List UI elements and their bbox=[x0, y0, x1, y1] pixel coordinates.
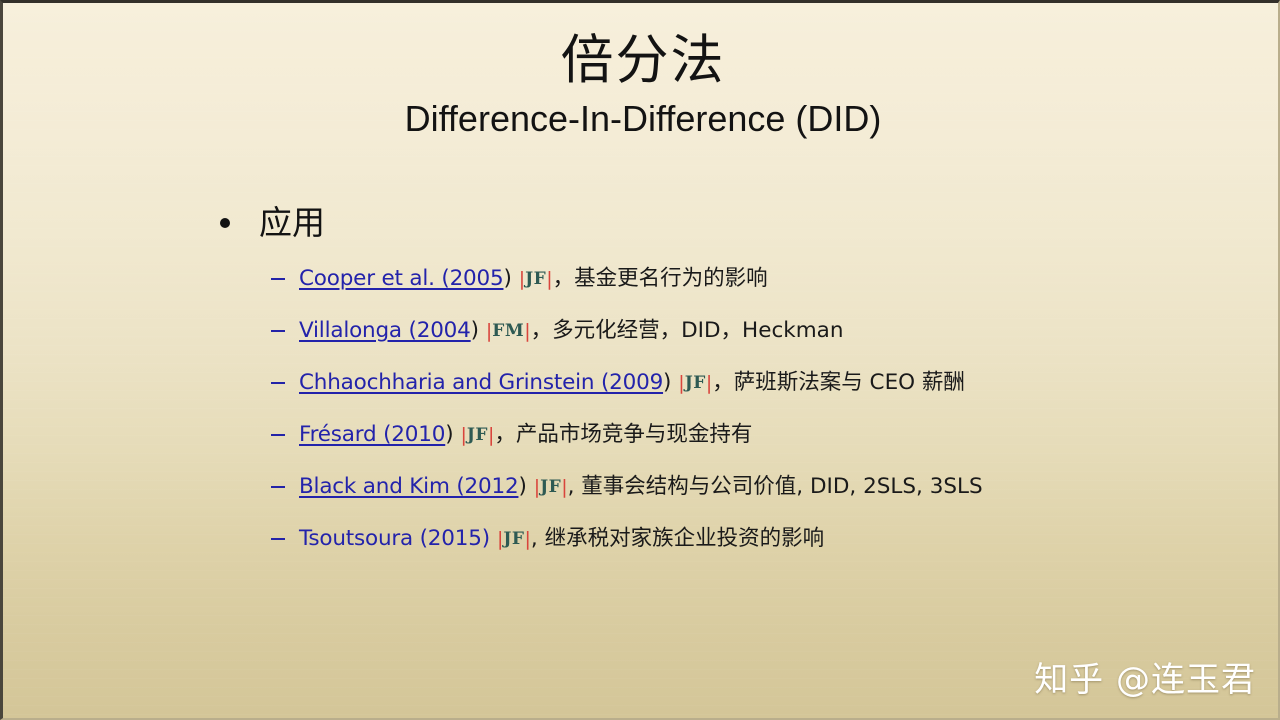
list-item: Cooper et al. (2005) |JF|，基金更名行为的影响 bbox=[3, 253, 1280, 305]
slide-subtitle-english: Difference-In-Difference (DID) bbox=[3, 96, 1280, 142]
slide-body: 应用 Cooper et al. (2005) |JF|，基金更名行为的影响 V… bbox=[3, 201, 1280, 565]
dash-marker-icon bbox=[271, 382, 285, 384]
dash-marker-icon bbox=[271, 434, 285, 436]
reference-close-paren: ) bbox=[503, 266, 511, 291]
dash-marker-icon bbox=[271, 538, 285, 540]
bullet-level1-label: 应用 bbox=[259, 203, 325, 242]
reference-link[interactable]: Black and Kim (2012 bbox=[299, 474, 518, 499]
reference-description: ，萨班斯法案与 CEO 薪酬 bbox=[712, 370, 965, 395]
dash-marker-icon bbox=[271, 330, 285, 332]
list-item: Frésard (2010) |JF|，产品市场竞争与现金持有 bbox=[3, 409, 1280, 461]
zhihu-watermark: 知乎 @连玉君 bbox=[1034, 658, 1256, 702]
reference-description: ，产品市场竞争与现金持有 bbox=[494, 422, 752, 447]
list-item: Chhaochharia and Grinstein (2009) |JF|，萨… bbox=[3, 357, 1280, 409]
reference-description: , 继承税对家族企业投资的影响 bbox=[531, 526, 824, 551]
reference-close-paren: ) bbox=[482, 526, 490, 551]
journal-tag: JF bbox=[525, 269, 546, 289]
dash-marker-icon bbox=[271, 278, 285, 280]
list-item: Villalonga (2004) |FM|，多元化经营，DID，Heckman bbox=[3, 305, 1280, 357]
journal-tag: JF bbox=[685, 373, 706, 393]
journal-bar-left: | bbox=[678, 372, 684, 394]
reference-link[interactable]: Tsoutsoura (2015 bbox=[299, 526, 482, 551]
reference-description: ，多元化经营，DID，Heckman bbox=[531, 318, 844, 343]
slide-title-block: 倍分法 Difference-In-Difference (DID) bbox=[3, 29, 1280, 142]
list-item: Black and Kim (2012) |JF|, 董事会结构与公司价值, D… bbox=[3, 461, 1280, 513]
reference-close-paren: ) bbox=[663, 370, 671, 395]
journal-bar-left: | bbox=[460, 424, 466, 446]
journal-tag: JF bbox=[540, 477, 561, 497]
journal-tag: JF bbox=[503, 529, 524, 549]
reference-link[interactable]: Chhaochharia and Grinstein (2009 bbox=[299, 370, 663, 395]
reference-close-paren: ) bbox=[518, 474, 526, 499]
list-item: Tsoutsoura (2015) |JF|, 继承税对家族企业投资的影响 bbox=[3, 513, 1280, 565]
reference-description: , 董事会结构与公司价值, DID, 2SLS, 3SLS bbox=[568, 474, 983, 499]
reference-close-paren: ) bbox=[445, 422, 453, 447]
reference-link[interactable]: Frésard (2010 bbox=[299, 422, 445, 447]
reference-description: ，基金更名行为的影响 bbox=[553, 266, 768, 291]
reference-link[interactable]: Cooper et al. (2005 bbox=[299, 266, 503, 291]
dash-marker-icon bbox=[271, 486, 285, 488]
journal-tag: FM bbox=[492, 321, 524, 341]
presentation-slide: 倍分法 Difference-In-Difference (DID) 应用 Co… bbox=[0, 0, 1280, 720]
reference-list: Cooper et al. (2005) |JF|，基金更名行为的影响 Vill… bbox=[3, 253, 1280, 565]
journal-tag: JF bbox=[467, 425, 488, 445]
slide-title-chinese: 倍分法 bbox=[3, 29, 1280, 93]
reference-link[interactable]: Villalonga (2004 bbox=[299, 318, 471, 343]
bullet-level1: 应用 bbox=[3, 201, 1280, 245]
bullet-dot-icon bbox=[220, 218, 230, 228]
reference-close-paren: ) bbox=[471, 318, 479, 343]
